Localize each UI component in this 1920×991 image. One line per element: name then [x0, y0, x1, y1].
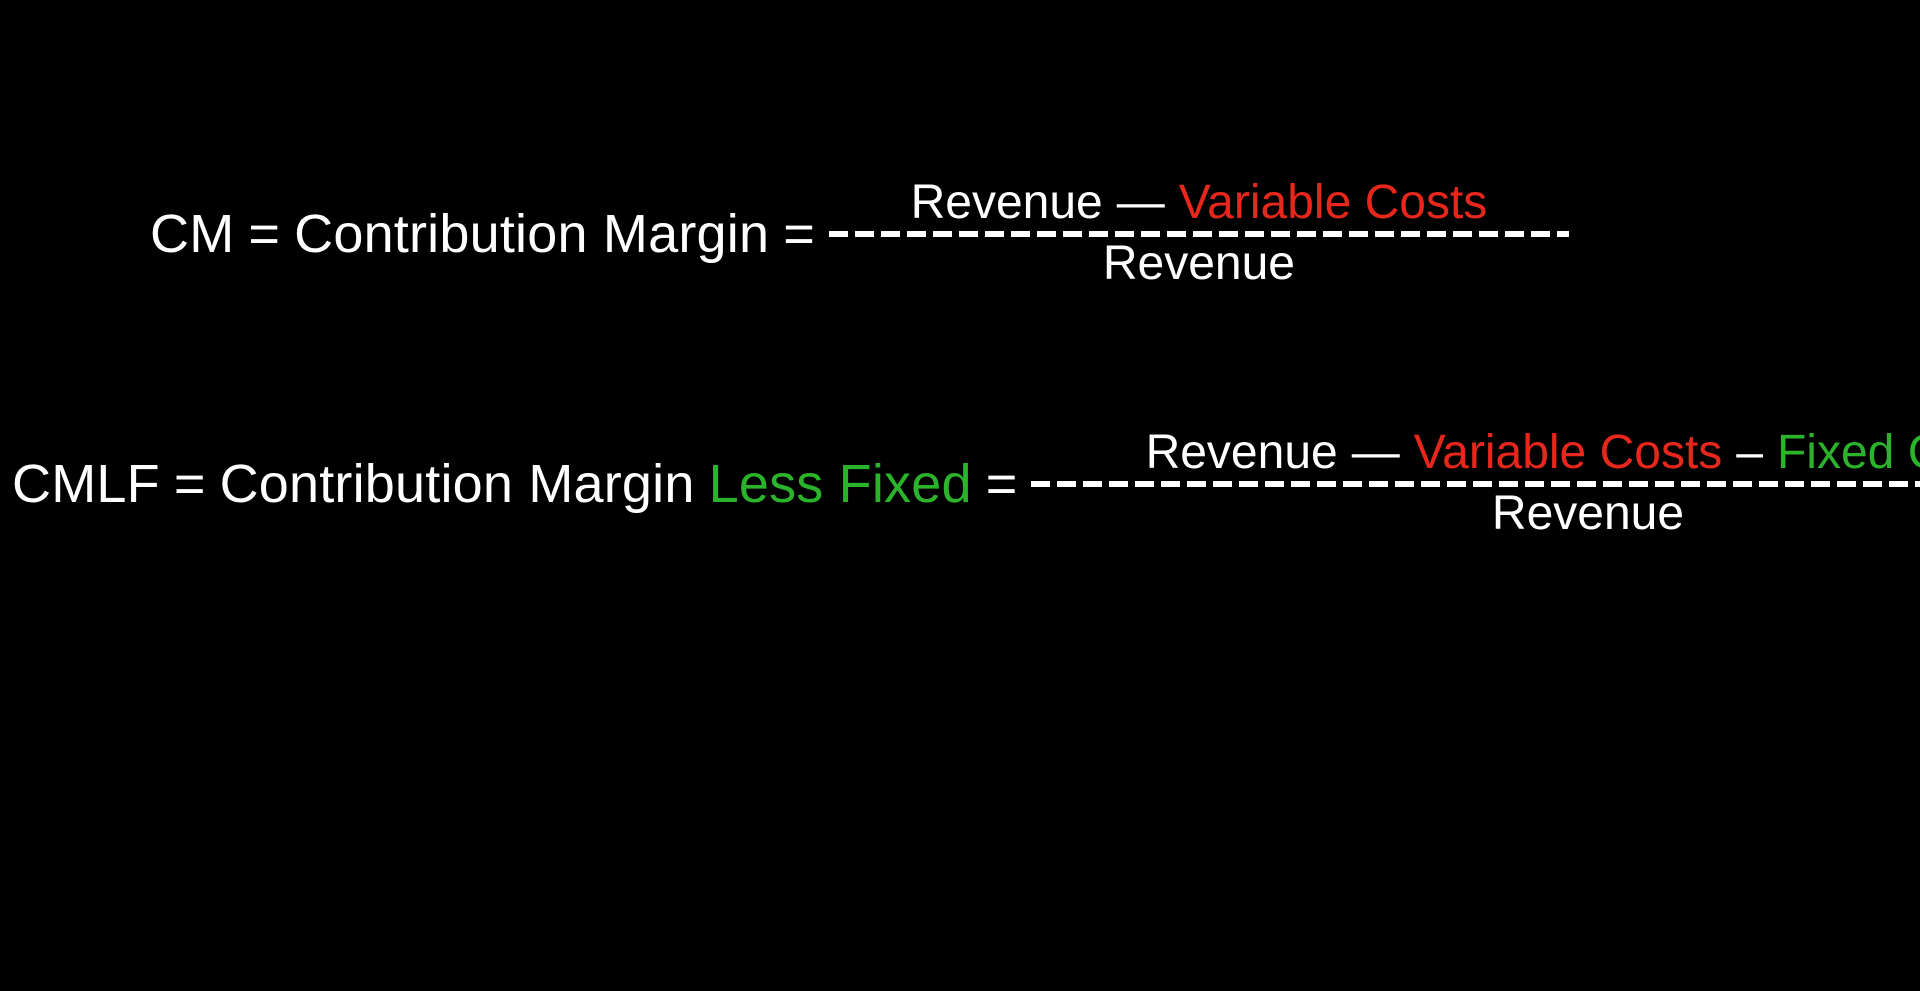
- cmlf-numerator-revenue: Revenue: [1146, 426, 1338, 479]
- cmlf-denominator: Revenue: [1492, 487, 1684, 540]
- cm-numerator: Revenue—Variable Costs: [911, 178, 1488, 231]
- cmlf-numerator-variable-costs: Variable Costs: [1414, 426, 1723, 479]
- cmlf-numerator-fixed-costs: Fixed Costs: [1777, 426, 1920, 479]
- cm-numerator-variable-costs: Variable Costs: [1179, 176, 1488, 229]
- cmlf-numerator-minus-icon-second: –: [1736, 426, 1763, 479]
- cmlf-name-label: Contribution Margin: [220, 454, 695, 514]
- cmlf-equals-first: =: [174, 454, 206, 514]
- equation-cmlf-left-hand-side: CMLF=Contribution MarginLess Fixed=: [12, 457, 1017, 511]
- cm-abbreviation: CM: [150, 204, 234, 264]
- cmlf-numerator-minus-icon-first: —: [1352, 426, 1400, 479]
- cmlf-equals-second: =: [986, 454, 1018, 514]
- cmlf-abbreviation: CMLF: [12, 454, 160, 514]
- cm-equals-first: =: [248, 204, 280, 264]
- cmlf-less-fixed-label: Less Fixed: [709, 454, 972, 514]
- cmlf-numerator: Revenue—Variable Costs–Fixed Costs: [1146, 428, 1920, 481]
- cm-denominator-revenue: Revenue: [1103, 237, 1295, 290]
- equation-cm-left-hand-side: CM=Contribution Margin=: [150, 207, 815, 261]
- equation-contribution-margin-less-fixed: CMLF=Contribution MarginLess Fixed= Reve…: [12, 428, 1920, 540]
- cmlf-fraction: Revenue—Variable Costs–Fixed Costs Reven…: [1031, 428, 1920, 540]
- cm-numerator-revenue: Revenue: [911, 176, 1103, 229]
- cm-name-label: Contribution Margin: [294, 204, 769, 264]
- slide-canvas: CM=Contribution Margin= Revenue—Variable…: [0, 0, 1920, 991]
- cm-numerator-minus-icon: —: [1117, 176, 1165, 229]
- cm-equals-second: =: [783, 204, 815, 264]
- equation-contribution-margin: CM=Contribution Margin= Revenue—Variable…: [150, 178, 1569, 290]
- cmlf-fraction-bar: [1031, 481, 1920, 487]
- cm-fraction: Revenue—Variable Costs Revenue: [829, 178, 1569, 290]
- cmlf-denominator-revenue: Revenue: [1492, 487, 1684, 540]
- cm-denominator: Revenue: [1103, 237, 1295, 290]
